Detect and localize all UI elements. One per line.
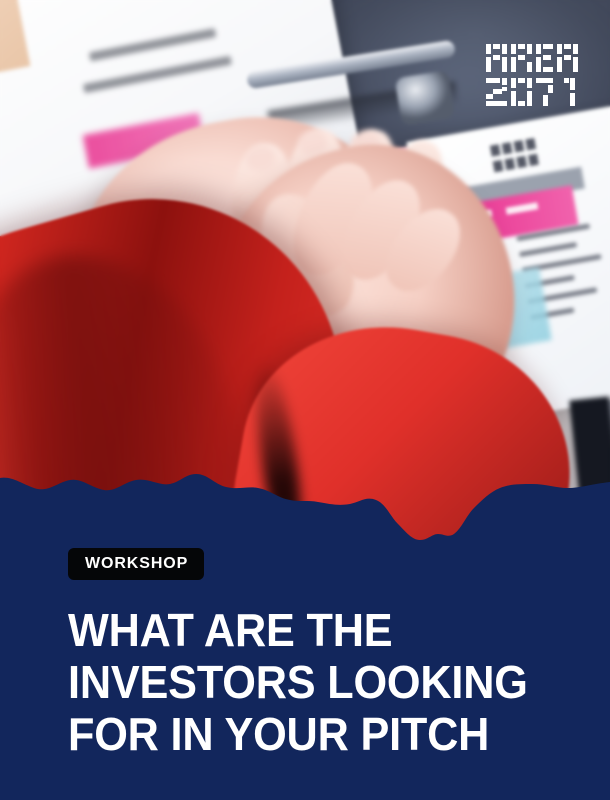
area-2071-logo	[486, 44, 578, 106]
poster-canvas: WORKSHOP WHAT ARE THE INVESTORS LOOKING …	[0, 0, 610, 800]
category-badge[interactable]: WORKSHOP	[68, 548, 204, 580]
page-title: WHAT ARE THE INVESTORS LOOKING FOR IN YO…	[68, 604, 547, 760]
document-text-line	[89, 28, 216, 61]
document-text-line	[83, 56, 232, 93]
document-tab	[0, 0, 30, 89]
